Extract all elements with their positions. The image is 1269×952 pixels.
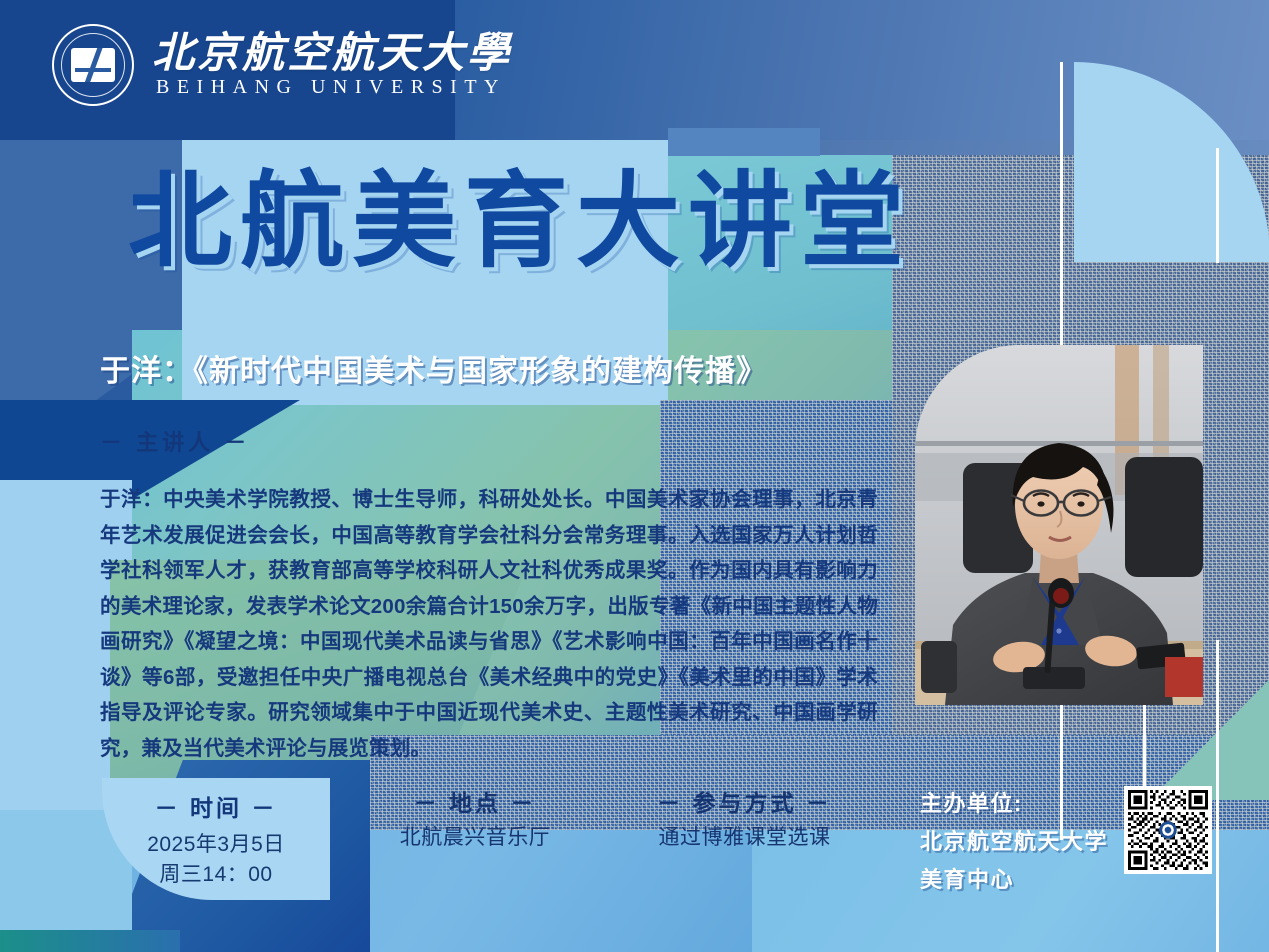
header-brand: 北京航空航天大學 BEIHANG UNIVERSITY <box>52 24 512 106</box>
organizer-label: 主办单位: <box>920 786 1108 818</box>
join-method: 通过博雅课堂选课 <box>612 824 877 852</box>
background-bottom-left-teal-stripe <box>0 930 180 952</box>
info-panel-join-method: － 参与方式 － 通过博雅课堂选课 <box>612 784 877 852</box>
time-clock: 周三14：00 <box>159 861 272 889</box>
time-label: － 时间 － <box>155 789 278 823</box>
decorative-vertical-rule <box>1216 148 1219 263</box>
university-name-cn: 北京航空航天大學 <box>152 33 512 75</box>
time-date: 2025年3月5日 <box>147 831 285 859</box>
speaker-biography: 于洋：中央美术学院教授、博士生导师，科研处处长。中国美术家协会理事，北京青年艺术… <box>100 482 878 766</box>
info-panel-place: － 地点 － 北航晨兴音乐厅 <box>350 784 600 852</box>
place-venue: 北航晨兴音乐厅 <box>350 824 600 852</box>
background-title-panel-cap <box>668 128 820 156</box>
organizer-name: 北京航空航天大学 <box>920 824 1108 856</box>
place-label: － 地点 － <box>350 784 600 818</box>
page-title: 北航美育大讲堂 <box>0 165 1040 279</box>
brand-text: 北京航空航天大學 BEIHANG UNIVERSITY <box>152 33 512 97</box>
join-label: － 参与方式 － <box>612 784 877 818</box>
decorative-vertical-rule <box>1216 640 1219 880</box>
lecture-subtitle: 于洋：《新时代中国美术与国家形象的建构传播》 <box>100 346 890 390</box>
beihang-seal-icon <box>52 24 134 106</box>
seal-emblem-icon <box>71 48 115 82</box>
organizer-block: 主办单位: 北京航空航天大学 美育中心 <box>920 786 1108 894</box>
university-name-en: BEIHANG UNIVERSITY <box>152 77 512 97</box>
decorative-vertical-rule <box>1216 860 1219 952</box>
organizer-department: 美育中心 <box>920 862 1108 894</box>
speaker-portrait-photo <box>915 345 1203 705</box>
qr-code-matrix <box>1128 790 1208 870</box>
speaker-section-label: － 主讲人 － <box>100 425 250 457</box>
poster-canvas: 北京航空航天大學 BEIHANG UNIVERSITY 北航美育大讲堂 于洋：《… <box>0 0 1269 952</box>
qr-code-icon[interactable] <box>1124 786 1212 874</box>
portrait-illustration <box>915 345 1203 705</box>
